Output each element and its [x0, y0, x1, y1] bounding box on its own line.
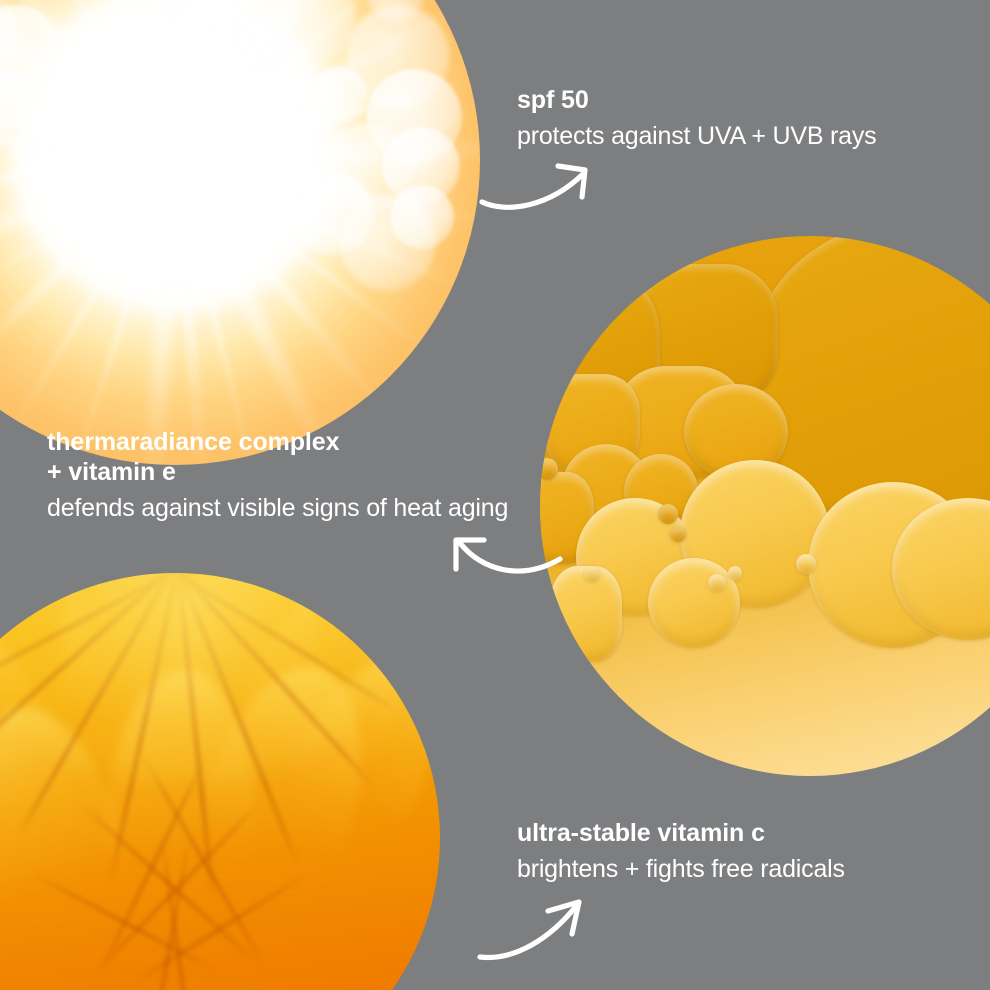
oil-bubble	[708, 574, 726, 592]
curved-arrow-up-right-icon-2	[476, 893, 601, 965]
curved-arrow-up-right-icon	[478, 152, 608, 214]
callout-vitamin-c-headline: ultra-stable vitamin c	[517, 818, 947, 848]
oil-bubble	[648, 558, 740, 648]
sun-bokeh-spot	[310, 67, 368, 125]
oil-bubble	[584, 566, 600, 582]
callout-thermaradiance-subline: defends against visible signs of heat ag…	[47, 492, 567, 524]
callout-spf-subline: protects against UVA + UVB rays	[517, 120, 947, 152]
oil-bubble	[796, 554, 816, 574]
callout-vitamin-c-subline: brightens + fights free radicals	[517, 853, 947, 885]
callout-thermaradiance-headline-line2: + vitamin e	[47, 457, 567, 487]
oil-bubble	[670, 526, 686, 542]
callout-vitamin-c: ultra-stable vitamin c brightens + fight…	[517, 818, 947, 885]
infographic-canvas: spf 50 protects against UVA + UVB rays t…	[0, 0, 990, 990]
sun-bokeh-spot	[390, 185, 454, 249]
callout-thermaradiance-headline-line1: thermaradiance complex	[47, 427, 567, 457]
oil-bubble	[728, 566, 742, 580]
oil-bubbles-photo	[540, 236, 990, 776]
citrus-macro-photo	[0, 573, 440, 990]
callout-spf: spf 50 protects against UVA + UVB rays	[517, 85, 947, 152]
oil-bubble	[550, 566, 622, 662]
sun-burst-photo	[0, 0, 480, 465]
oil-bubble	[658, 504, 678, 524]
callout-spf-headline: spf 50	[517, 85, 947, 115]
sun-bokeh-spot	[234, 17, 292, 75]
callout-thermaradiance: thermaradiance complex + vitamin e defen…	[47, 427, 567, 524]
